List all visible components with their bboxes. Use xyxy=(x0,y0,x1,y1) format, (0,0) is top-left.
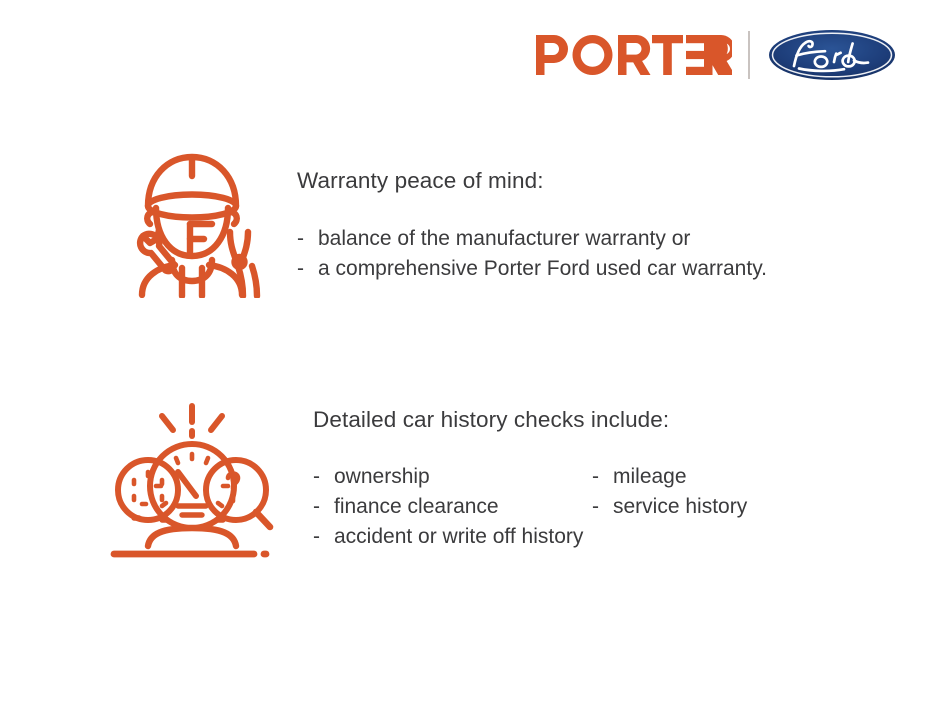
history-bullet-grid: - ownership - mileage - finance clearanc… xyxy=(313,462,747,552)
list-item: - service history xyxy=(592,492,747,522)
list-item: - accident or write off history xyxy=(313,522,583,552)
list-item: - a comprehensive Porter Ford used car w… xyxy=(297,254,767,284)
warranty-text-body: Warranty peace of mind: - balance of the… xyxy=(292,140,767,284)
bullet-text: accident or write off history xyxy=(334,522,583,552)
dashboard-gauges-inspection-icon xyxy=(104,394,284,566)
bullet-text: finance clearance xyxy=(334,492,499,522)
list-item: - balance of the manufacturer warranty o… xyxy=(297,224,767,254)
porter-wordmark xyxy=(536,33,732,77)
bullet-marker: - xyxy=(592,492,613,522)
bullet-marker: - xyxy=(297,224,318,254)
bullet-text: balance of the manufacturer warranty or xyxy=(318,224,690,254)
history-heading: Detailed car history checks include: xyxy=(313,408,747,433)
bullet-marker: - xyxy=(313,492,334,522)
bullet-row: - ownership - mileage xyxy=(313,462,747,492)
bullet-marker: - xyxy=(313,462,334,492)
bullet-row: - accident or write off history xyxy=(313,522,747,552)
history-checks-section: Detailed car history checks include: - o… xyxy=(104,394,747,566)
bullet-text: ownership xyxy=(334,462,430,492)
mechanic-hardhat-icon xyxy=(112,140,272,298)
bullet-row: - finance clearance - service history xyxy=(313,492,747,522)
bullet-marker: - xyxy=(592,462,613,492)
brand-divider xyxy=(748,31,750,79)
bullet-text: service history xyxy=(613,492,747,522)
brand-header xyxy=(536,26,896,84)
bullet-marker: - xyxy=(297,254,318,284)
history-text-body: Detailed car history checks include: - o… xyxy=(300,394,747,552)
list-item: - ownership xyxy=(313,462,592,492)
list-item: - mileage xyxy=(592,462,687,492)
warranty-section: Warranty peace of mind: - balance of the… xyxy=(112,140,767,298)
bullet-marker: - xyxy=(313,522,334,552)
ford-oval-logo xyxy=(768,29,896,81)
bullet-text: mileage xyxy=(613,462,687,492)
bullet-text: a comprehensive Porter Ford used car war… xyxy=(318,254,767,284)
list-item: - finance clearance xyxy=(313,492,592,522)
warranty-heading: Warranty peace of mind: xyxy=(297,169,767,194)
warranty-bullet-list: - balance of the manufacturer warranty o… xyxy=(297,224,767,284)
